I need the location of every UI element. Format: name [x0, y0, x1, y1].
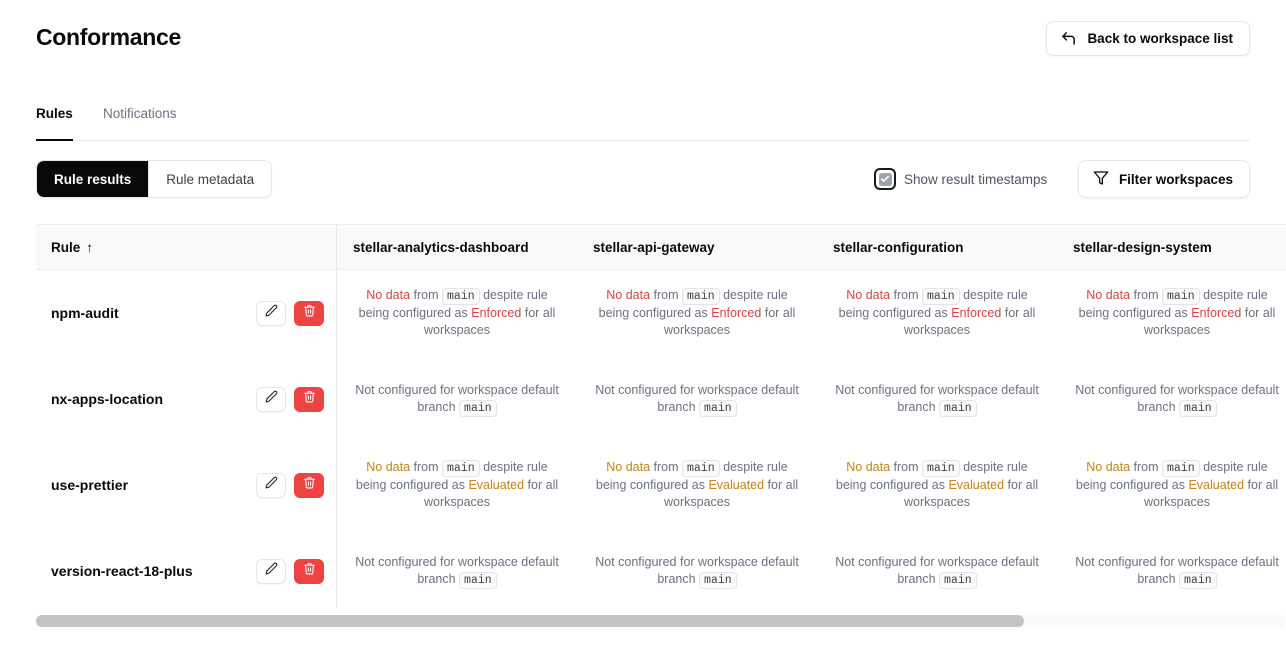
- result-cell[interactable]: Not configured for workspace default bra…: [337, 528, 577, 609]
- result-cell[interactable]: No data from main despite rule being con…: [817, 270, 1057, 356]
- show-result-timestamps-group: Show result timestamps: [874, 168, 1047, 190]
- column-header-workspace-label: stellar-api-gateway: [593, 240, 715, 255]
- cell-status-text: Not configured for workspace default bra…: [1073, 382, 1281, 417]
- cell-status-text: No data from main despite rule being con…: [833, 287, 1041, 339]
- table-toolbar: Rule results Rule metadata Show result t…: [0, 160, 1286, 200]
- conformance-table: Rule↑stellar-analytics-dashboardstellar-…: [36, 224, 1286, 609]
- column-header-workspace-label: stellar-configuration: [833, 240, 964, 255]
- trash-icon: [303, 562, 316, 580]
- result-cell[interactable]: Not configured for workspace default bra…: [1057, 356, 1286, 442]
- result-cell[interactable]: No data from main despite rule being con…: [337, 442, 577, 528]
- page-title: Conformance: [36, 24, 181, 51]
- rule-name-cell: npm-audit: [36, 270, 336, 356]
- branch-chip: main: [682, 460, 720, 477]
- trash-icon: [303, 476, 316, 494]
- pencil-icon: [265, 304, 278, 322]
- result-cell[interactable]: No data from main despite rule being con…: [1057, 270, 1286, 356]
- result-cell[interactable]: Not configured for workspace default bra…: [577, 356, 817, 442]
- conformance-page: Conformance Back to workspace list Rules…: [0, 0, 1286, 667]
- result-cell[interactable]: Not configured for workspace default bra…: [817, 356, 1057, 442]
- cell-status-text: Not configured for workspace default bra…: [353, 554, 561, 589]
- column-header-workspace-2[interactable]: stellar-configuration: [817, 225, 1057, 269]
- checkbox-check-icon: [879, 173, 892, 186]
- show-result-timestamps-label: Show result timestamps: [904, 172, 1047, 187]
- column-header-workspace-3[interactable]: stellar-design-system: [1057, 225, 1286, 269]
- segment-rule-metadata[interactable]: Rule metadata: [148, 161, 271, 197]
- branch-chip: main: [459, 400, 497, 417]
- result-cell[interactable]: No data from main despite rule being con…: [1057, 442, 1286, 528]
- cell-status-text: No data from main despite rule being con…: [353, 459, 561, 511]
- sort-ascending-icon: ↑: [86, 240, 93, 255]
- branch-chip: main: [922, 460, 960, 477]
- column-header-rule-label: Rule: [51, 240, 80, 255]
- branch-chip: main: [1162, 288, 1200, 305]
- segment-rule-results[interactable]: Rule results: [37, 161, 148, 197]
- branch-chip: main: [459, 572, 497, 589]
- cell-rule-state: Enforced: [1191, 306, 1241, 320]
- cell-rule-state: Enforced: [951, 306, 1001, 320]
- pencil-icon: [265, 390, 278, 408]
- branch-chip: main: [1162, 460, 1200, 477]
- branch-chip: main: [682, 288, 720, 305]
- rule-name-cell: nx-apps-location: [36, 356, 336, 442]
- cell-status-text: Not configured for workspace default bra…: [593, 554, 801, 589]
- column-header-workspace-0[interactable]: stellar-analytics-dashboard: [337, 225, 577, 269]
- row-actions: [256, 473, 324, 498]
- branch-chip: main: [699, 400, 737, 417]
- result-cell[interactable]: Not configured for workspace default bra…: [817, 528, 1057, 609]
- column-header-workspace-label: stellar-analytics-dashboard: [353, 240, 529, 255]
- delete-rule-button[interactable]: [294, 473, 324, 498]
- rule-name: nx-apps-location: [51, 391, 163, 407]
- cell-status-keyword: No data: [366, 288, 410, 302]
- result-cell[interactable]: Not configured for workspace default bra…: [1057, 528, 1286, 609]
- tab-notifications[interactable]: Notifications: [103, 105, 177, 141]
- trash-icon: [303, 390, 316, 408]
- back-to-workspace-list-button[interactable]: Back to workspace list: [1046, 21, 1250, 56]
- horizontal-scrollbar-thumb[interactable]: [36, 615, 1024, 627]
- cell-status-text: Not configured for workspace default bra…: [593, 382, 801, 417]
- funnel-icon: [1093, 170, 1109, 189]
- result-cell[interactable]: No data from main despite rule being con…: [817, 442, 1057, 528]
- cell-status-text: No data from main despite rule being con…: [1073, 459, 1281, 511]
- horizontal-scrollbar[interactable]: [36, 615, 1286, 627]
- rule-name: use-prettier: [51, 477, 128, 493]
- column-header-rule[interactable]: Rule↑: [36, 225, 336, 269]
- rule-name-cell: use-prettier: [36, 442, 336, 528]
- result-cell[interactable]: Not configured for workspace default bra…: [337, 356, 577, 442]
- back-arrow-icon: [1060, 30, 1077, 47]
- column-header-workspace-1[interactable]: stellar-api-gateway: [577, 225, 817, 269]
- rule-name: npm-audit: [51, 305, 119, 321]
- tab-bar: Rules Notifications: [0, 105, 1286, 141]
- cell-status-text: Not configured for workspace default bra…: [1073, 554, 1281, 589]
- row-actions: [256, 559, 324, 584]
- cell-status-keyword: No data: [846, 288, 890, 302]
- filter-workspaces-label: Filter workspaces: [1119, 172, 1233, 187]
- cell-status-text: Not configured for workspace default bra…: [833, 382, 1041, 417]
- table-row: nx-apps-locationNot configured for works…: [36, 356, 1286, 442]
- cell-rule-state: Evaluated: [468, 478, 524, 492]
- cell-status-keyword: No data: [606, 460, 650, 474]
- branch-chip: main: [442, 460, 480, 477]
- edit-rule-button[interactable]: [256, 387, 286, 412]
- result-cell[interactable]: No data from main despite rule being con…: [577, 442, 817, 528]
- filter-workspaces-button[interactable]: Filter workspaces: [1078, 160, 1250, 198]
- show-result-timestamps-checkbox[interactable]: [874, 168, 896, 190]
- branch-chip: main: [699, 572, 737, 589]
- table-header-row: Rule↑stellar-analytics-dashboardstellar-…: [36, 224, 1286, 270]
- edit-rule-button[interactable]: [256, 473, 286, 498]
- cell-rule-state: Enforced: [711, 306, 761, 320]
- branch-chip: main: [939, 400, 977, 417]
- edit-rule-button[interactable]: [256, 301, 286, 326]
- cell-status-text: No data from main despite rule being con…: [593, 287, 801, 339]
- table-body: npm-auditNo data from main despite rule …: [36, 270, 1286, 609]
- pencil-icon: [265, 562, 278, 580]
- cell-status-text: No data from main despite rule being con…: [353, 287, 561, 339]
- cell-status-keyword: No data: [1086, 460, 1130, 474]
- branch-chip: main: [442, 288, 480, 305]
- back-button-label: Back to workspace list: [1087, 31, 1233, 46]
- cell-status-text: No data from main despite rule being con…: [593, 459, 801, 511]
- cell-status-keyword: No data: [606, 288, 650, 302]
- cell-rule-state: Evaluated: [708, 478, 764, 492]
- cell-status-text: No data from main despite rule being con…: [1073, 287, 1281, 339]
- result-cell[interactable]: No data from main despite rule being con…: [337, 270, 577, 356]
- branch-chip: main: [1179, 400, 1217, 417]
- trash-icon: [303, 304, 316, 322]
- result-cell[interactable]: No data from main despite rule being con…: [577, 270, 817, 356]
- page-header: Conformance Back to workspace list: [0, 0, 1286, 92]
- pencil-icon: [265, 476, 278, 494]
- cell-rule-state: Evaluated: [948, 478, 1004, 492]
- cell-rule-state: Enforced: [471, 306, 521, 320]
- rule-name-cell: version-react-18-plus: [36, 528, 336, 609]
- tab-rules-label: Rules: [36, 106, 73, 121]
- tab-rules[interactable]: Rules: [36, 105, 73, 141]
- row-actions: [256, 301, 324, 326]
- cell-status-keyword: No data: [366, 460, 410, 474]
- cell-rule-state: Evaluated: [1188, 478, 1244, 492]
- segment-rule-metadata-label: Rule metadata: [166, 172, 254, 187]
- delete-rule-button[interactable]: [294, 387, 324, 412]
- cell-status-text: Not configured for workspace default bra…: [353, 382, 561, 417]
- branch-chip: main: [939, 572, 977, 589]
- conformance-table-scroll-area[interactable]: Rule↑stellar-analytics-dashboardstellar-…: [36, 224, 1286, 609]
- view-mode-segmented-control: Rule results Rule metadata: [36, 160, 272, 198]
- column-header-workspace-label: stellar-design-system: [1073, 240, 1212, 255]
- cell-status-keyword: No data: [1086, 288, 1130, 302]
- table-row: npm-auditNo data from main despite rule …: [36, 270, 1286, 356]
- delete-rule-button[interactable]: [294, 301, 324, 326]
- branch-chip: main: [1179, 572, 1217, 589]
- result-cell[interactable]: Not configured for workspace default bra…: [577, 528, 817, 609]
- table-row: use-prettierNo data from main despite ru…: [36, 442, 1286, 528]
- segment-rule-results-label: Rule results: [54, 172, 131, 187]
- tab-bar-divider: [36, 140, 1250, 141]
- tab-notifications-label: Notifications: [103, 106, 177, 121]
- rule-name: version-react-18-plus: [51, 563, 193, 579]
- cell-status-text: Not configured for workspace default bra…: [833, 554, 1041, 589]
- table-row: version-react-18-plusNot configured for …: [36, 528, 1286, 609]
- row-actions: [256, 387, 324, 412]
- branch-chip: main: [922, 288, 960, 305]
- edit-rule-button[interactable]: [256, 559, 286, 584]
- cell-status-keyword: No data: [846, 460, 890, 474]
- cell-status-text: No data from main despite rule being con…: [833, 459, 1041, 511]
- delete-rule-button[interactable]: [294, 559, 324, 584]
